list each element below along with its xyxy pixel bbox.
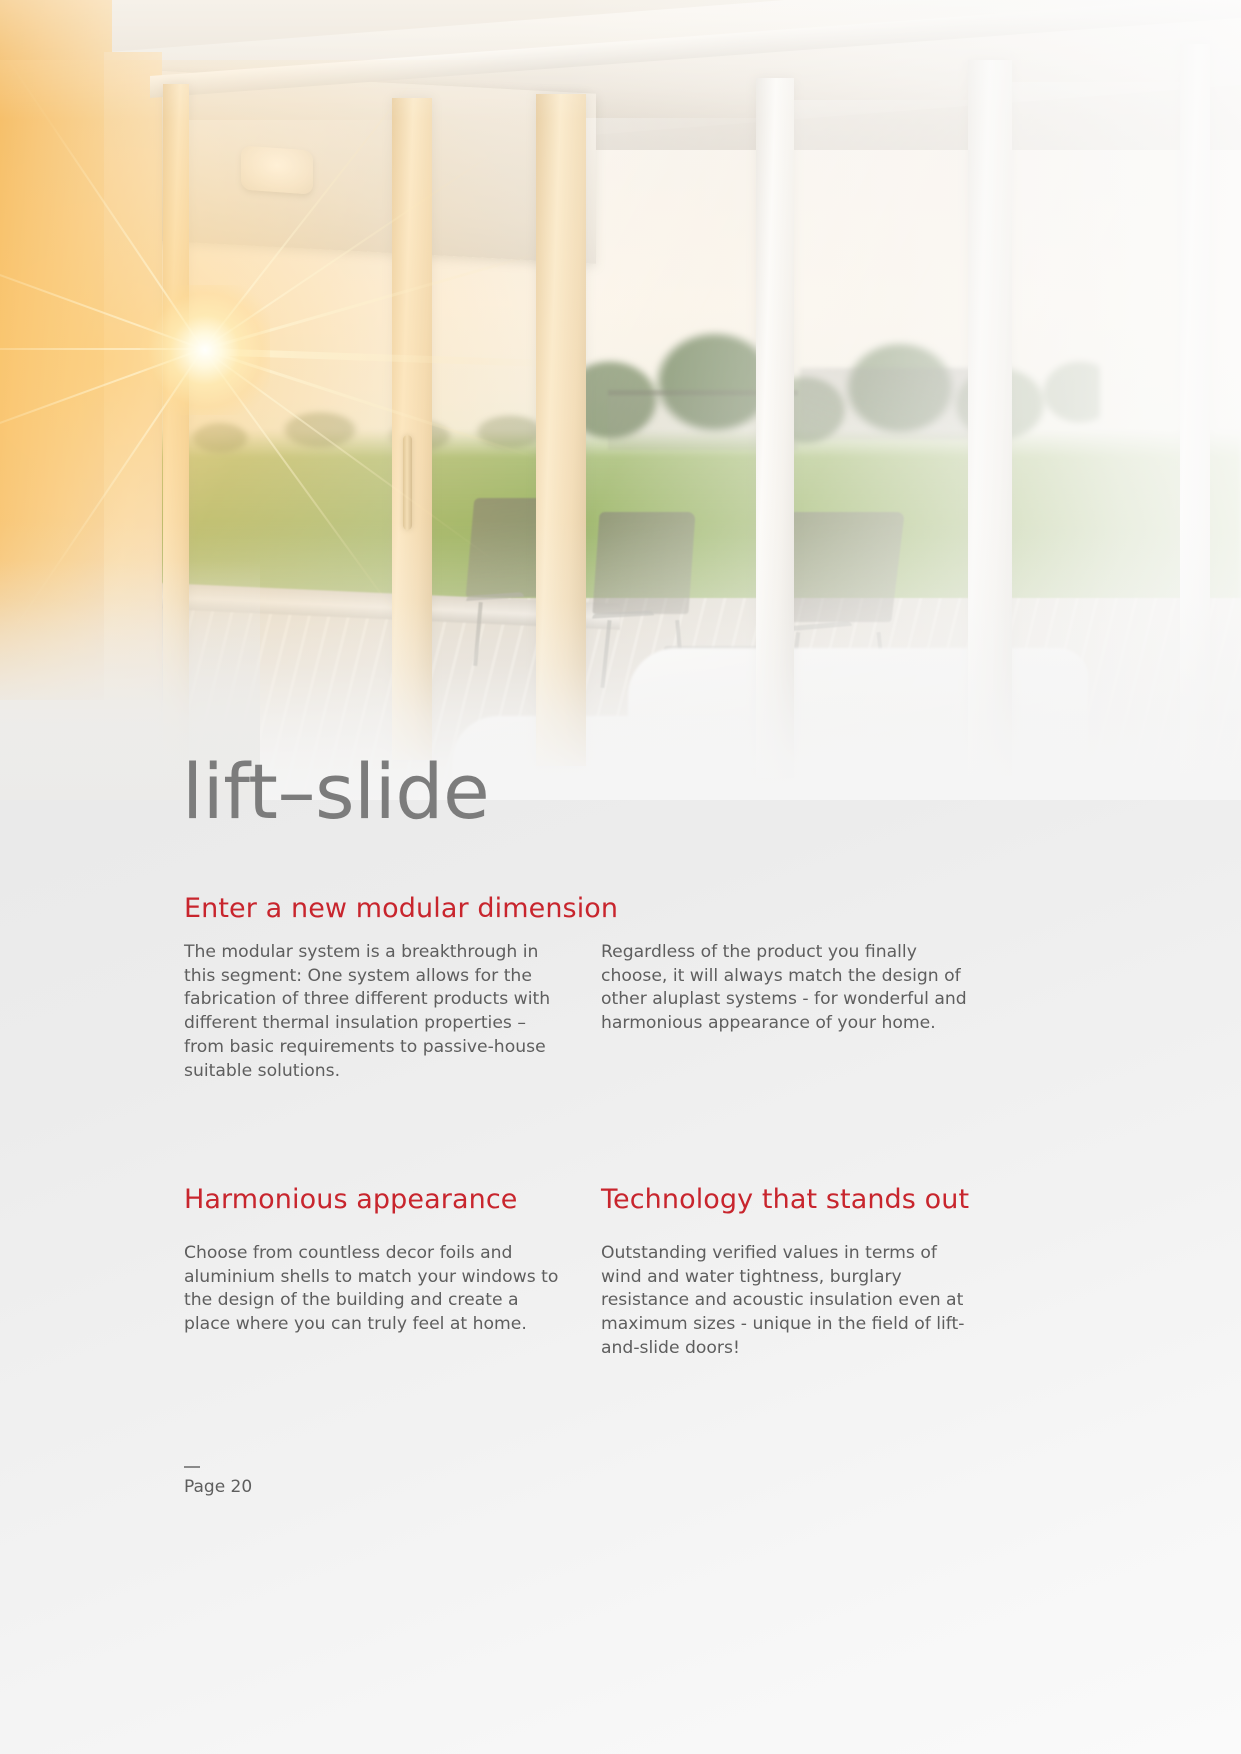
page-footer: Page 20 [184,1466,252,1497]
section-body-regardless-of-the-product: Regardless of the product you finally ch… [601,941,981,1036]
section-body-enter-a-new-modular-dimension: The modular system is a breakthrough in … [184,941,564,1083]
footer-dash-icon [184,1466,200,1468]
brochure-page: lift–slide Enter a new modular dimension… [0,0,1241,1754]
section-heading-technology-that-stands-out: Technology that stands out [601,1184,981,1215]
page-number-label: Page 20 [184,1477,252,1497]
section-body-technology-that-stands-out: Outstanding verified values in terms of … [601,1242,981,1361]
section-body-harmonious-appearance: Choose from countless decor foils and al… [184,1242,564,1337]
section-heading-enter-a-new-modular-dimension: Enter a new modular dimension [184,893,564,924]
section-heading-harmonious-appearance: Harmonious appearance [184,1184,564,1215]
